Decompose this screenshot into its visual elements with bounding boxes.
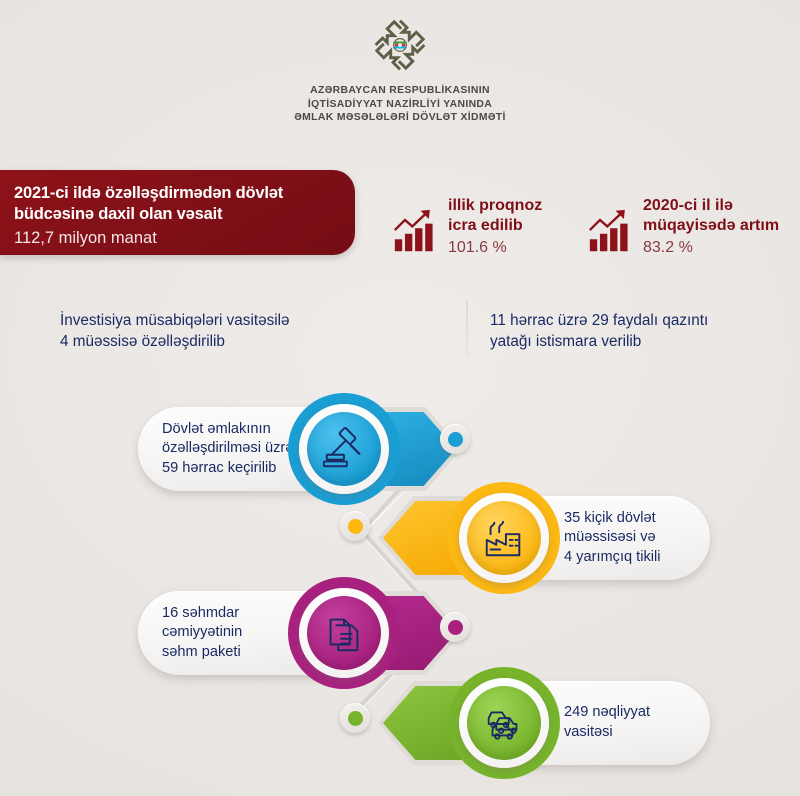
card4-line2: vasitəsi	[564, 723, 650, 743]
card4-line1: 249 nəqliyyat	[564, 703, 650, 723]
card-row-vehicles: 249 nəqliyyat vasitəsi	[330, 655, 730, 775]
organization-name: AZƏRBAYCAN RESPUBLİKASININ İQTİSADİYYAT …	[294, 84, 505, 125]
card2-line3: 4 yarımçıq tikili	[564, 548, 661, 568]
card2-line2: müəssisəsi və	[564, 528, 661, 548]
header: AZƏRBAYCAN RESPUBLİKASININ İQTİSADİYYAT …	[0, 0, 800, 148]
card3-line3: səhm paketi	[162, 643, 242, 663]
section-divider	[466, 300, 468, 356]
connector-dot-magenta	[440, 612, 470, 642]
card1-line3: 59 hərrac keçirilib	[162, 459, 293, 479]
azerbaijan-state-emblem-icon	[371, 16, 429, 74]
factory-icon	[467, 501, 541, 575]
vehicles-icon	[467, 686, 541, 760]
section1-line2: 4 müəssisə özəlləşdirilib	[60, 331, 290, 352]
badge-vehicles	[448, 667, 560, 779]
card1-line1: Dövlət əmlakının	[162, 420, 293, 440]
section1-line1: İnvestisiya müsabiqələri vasitəsilə	[60, 310, 290, 331]
card3-line2: cəmiyyətinin	[162, 623, 242, 643]
bar-chart-up-icon	[588, 208, 634, 254]
stat-annual-forecast: illik proqnoz icra edilib 101.6 %	[393, 196, 542, 259]
bar-chart-up-icon	[393, 208, 439, 254]
stat-growth-vs-2020: 2020-ci il ilə müqayisədə artım 83.2 %	[588, 196, 779, 259]
budget-revenue-banner: 2021-ci ildə özəlləşdirmədən dövlət büdc…	[0, 170, 355, 255]
stat2-title-line1: 2020-ci il ilə	[643, 196, 779, 216]
org-line-1: AZƏRBAYCAN RESPUBLİKASININ	[294, 84, 505, 98]
card3-line1: 16 səhmdar	[162, 604, 242, 624]
section-heading-mining: 11 hərrac üzrə 29 faydalı qazıntı yatağı…	[490, 310, 708, 352]
connector-dot-yellow	[340, 511, 370, 541]
banner-amount: 112,7 milyon manat	[14, 227, 337, 250]
org-line-3: ƏMLAK MƏSƏLƏLƏRİ DÖVLƏT XİDMƏTİ	[294, 111, 505, 125]
org-line-2: İQTİSADİYYAT NAZİRLİYİ YANINDA	[294, 98, 505, 112]
banner-heading-line1: 2021-ci ildə özəlləşdirmədən dövlət	[14, 183, 337, 204]
stat2-title-line2: müqayisədə artım	[643, 216, 779, 236]
section2-line1: 11 hərrac üzrə 29 faydalı qazıntı	[490, 310, 708, 331]
card-shares-text: 16 səhmdar cəmiyyətinin səhm paketi	[162, 604, 242, 663]
section-heading-investment: İnvestisiya müsabiqələri vasitəsilə 4 mü…	[60, 310, 290, 352]
banner-heading-line2: büdcəsinə daxil olan vəsait	[14, 204, 337, 225]
stat1-value: 101.6 %	[448, 237, 542, 259]
card-vehicles-text: 249 nəqliyyat vasitəsi	[564, 703, 650, 742]
card1-line2: özəlləşdirilməsi üzrə	[162, 439, 293, 459]
stat1-title-line2: icra edilib	[448, 216, 542, 236]
card2-line1: 35 kiçik dövlət	[564, 509, 661, 529]
section2-line2: yatağı istismara verilib	[490, 331, 708, 352]
connector-dot-green	[340, 703, 370, 733]
card-auctions-text: Dövlət əmlakının özəlləşdirilməsi üzrə 5…	[162, 420, 293, 479]
connector-dot-blue	[440, 424, 470, 454]
stat1-title-line1: illik proqnoz	[448, 196, 542, 216]
card-enterprises-text: 35 kiçik dövlət müəssisəsi və 4 yarımçıq…	[564, 509, 661, 568]
stat2-value: 83.2 %	[643, 237, 779, 259]
